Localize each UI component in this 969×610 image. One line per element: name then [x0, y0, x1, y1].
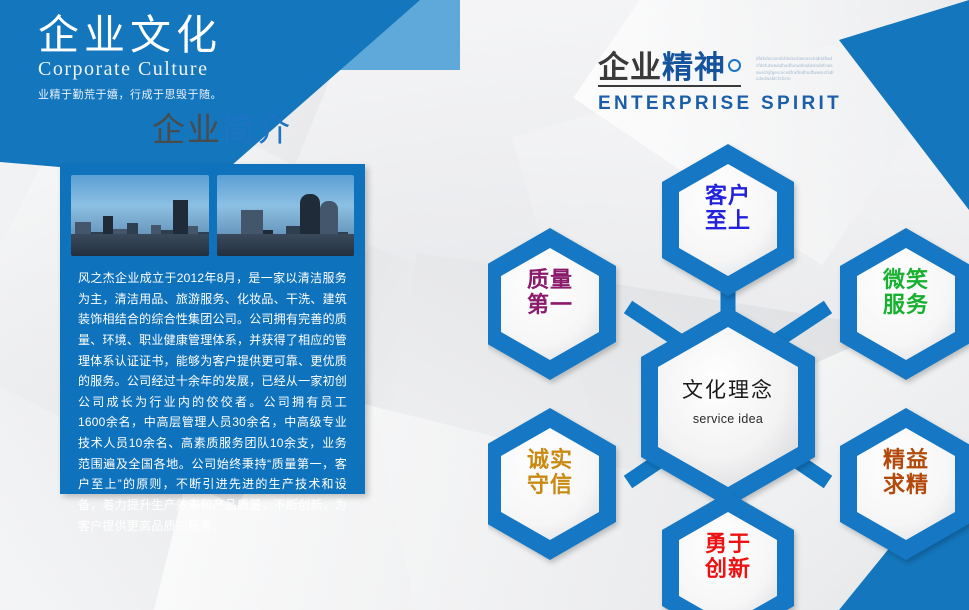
hex-node-smile-service: [840, 228, 969, 380]
city-skyline-photo-1: [71, 175, 209, 256]
header-subtitle: 业精于勤荒于嬉，行成于思毁于随。: [38, 86, 338, 102]
hex-node-excellence: [840, 408, 969, 560]
hex-node-innovation: [662, 492, 794, 610]
company-photo-strip: [60, 164, 365, 256]
spirit-title-en: ENTERPRISE SPIRIT: [598, 93, 898, 115]
circle-mark-icon: [728, 59, 741, 72]
section-title-company-profile: 企业简介: [152, 113, 292, 146]
city-towers-photo-2: [217, 175, 355, 256]
section-title-highlight: 简介: [222, 111, 292, 148]
corporate-culture-header: 企业文化 Corporate Culture 业精于勤荒于嬉，行成于思毁于随。: [38, 14, 338, 102]
enterprise-spirit-header: 企业精神 dfdkdscisenbfdslsckiwsnsckidtidfwdc…: [598, 52, 898, 115]
header-title-cn: 企业文化: [38, 14, 338, 57]
decorative-microtext: dfdkdscisenbfdslsckiwsnsckidtidfwdcfdsfu…: [756, 56, 834, 84]
spirit-title-cn: 企业精神: [598, 52, 741, 87]
hex-node-quality-first: [488, 228, 616, 380]
spirit-title-prefix: 企业: [598, 50, 662, 85]
header-title-en: Corporate Culture: [38, 58, 338, 81]
spirit-title-highlight: 精神: [662, 50, 726, 85]
poster-canvas: 企业文化 Corporate Culture 业精于勤荒于嬉，行成于思毁于随。 …: [0, 0, 969, 610]
hex-node-integrity: [488, 408, 616, 560]
hex-center-label-en: service idea: [628, 412, 828, 426]
hex-center-label-cn: 文化理念: [628, 374, 828, 404]
company-profile-text: 风之杰企业成立于2012年8月，是一家以清洁服务为主，清洁用品、旅游服务、化妆品…: [60, 256, 365, 536]
hex-node-customer-first: [662, 144, 794, 296]
hexagon-graphic: [488, 122, 969, 610]
section-title-prefix: 企业: [152, 111, 222, 148]
company-profile-card: 风之杰企业成立于2012年8月，是一家以清洁服务为主，清洁用品、旅游服务、化妆品…: [60, 164, 365, 494]
culture-hexagon-diagram: 文化理念 service idea 客户 至上 质量 第一 微笑 服务 诚实 守…: [488, 122, 969, 610]
